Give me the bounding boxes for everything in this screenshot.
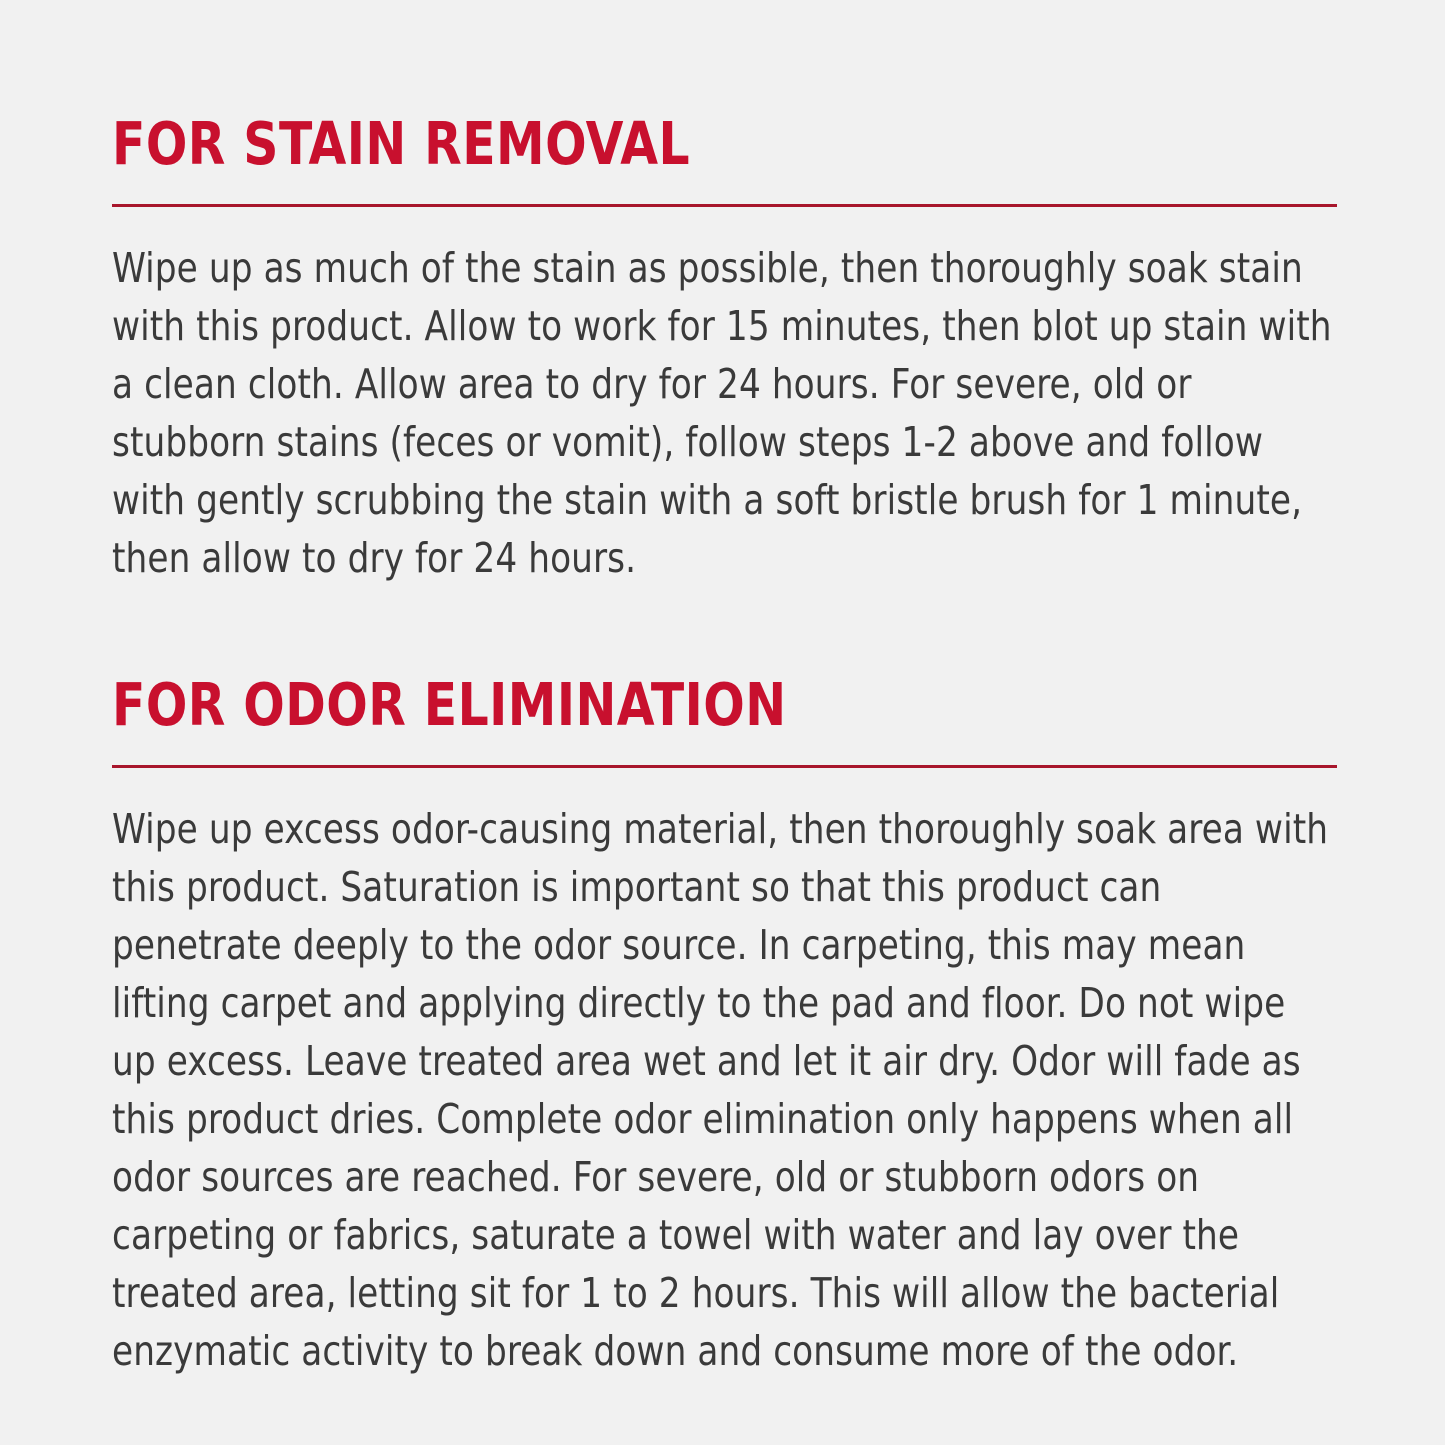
section-body-odor-elimination: Wipe up excess odor-causing material, th… <box>112 800 1338 1380</box>
section-heading-stain-removal: FOR STAIN REMOVAL <box>112 114 1325 174</box>
product-instructions-panel: FOR STAIN REMOVAL Wipe up as much of the… <box>0 0 1445 1445</box>
section-divider-odor-elimination <box>112 765 1337 768</box>
section-odor-elimination: FOR ODOR ELIMINATION Wipe up excess odor… <box>112 675 1430 1380</box>
section-stain-removal: FOR STAIN REMOVAL Wipe up as much of the… <box>112 114 1430 587</box>
section-body-stain-removal: Wipe up as much of the stain as possible… <box>112 239 1338 587</box>
section-divider-stain-removal <box>112 204 1337 207</box>
section-heading-odor-elimination: FOR ODOR ELIMINATION <box>112 675 1325 735</box>
